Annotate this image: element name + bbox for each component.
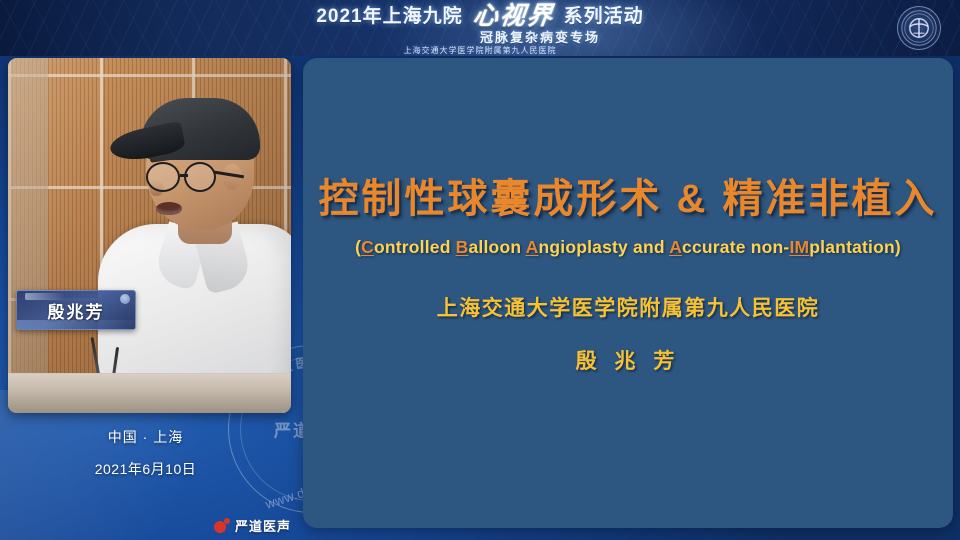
title-en-segment-3: B [456, 237, 469, 257]
slide-title-chinese: 控制性球囊成形术 & 精准非植入 [318, 179, 937, 219]
banner-subtitle: 冠脉复杂病变专场 [480, 31, 600, 44]
banner-title-suffix: 系列活动 [564, 7, 644, 26]
banner-title-line: 2021年上海九院 心视界 系列活动 [316, 4, 643, 29]
title-en-segment-8: ccurate non- [682, 237, 789, 257]
presenter-figure [104, 76, 291, 413]
title-en-segment-4: alloon [469, 237, 526, 257]
title-en-segment-6: ngioplasty and [538, 237, 669, 257]
event-location: 中国 · 上海 [0, 430, 291, 445]
presenter-glasses [144, 162, 240, 192]
slide-organization: 上海交通大学医学院附属第九人民医院 [437, 298, 820, 319]
drvoice-logo-icon [214, 518, 230, 533]
glasses-bridge [180, 174, 188, 177]
title-en-segment-7: A [669, 237, 682, 257]
brand-logo: 严道医声 [214, 516, 291, 535]
banner-host-institution: 上海交通大学医学院附属第九人民医院 [404, 47, 557, 55]
banner-title-hero: 心视界 [468, 4, 558, 29]
title-en-segment-2: ontrolled [374, 237, 456, 257]
title-en-segment-5: A [526, 237, 539, 257]
event-banner: 2021年上海九院 心视界 系列活动 冠脉复杂病变专场 上海交通大学医学院附属第… [0, 0, 960, 56]
podium-desk [8, 373, 291, 413]
hospital-emblem-icon [897, 6, 941, 50]
nameplate-footer-strip [17, 320, 135, 329]
nameplate-highlight [25, 293, 65, 300]
title-en-segment-10: plantation) [809, 237, 901, 257]
title-en-segment-9: IM [789, 237, 809, 257]
event-date: 2021年6月10日 [0, 462, 291, 477]
brand-name-text: 严道医声 [235, 516, 291, 535]
glasses-lens-left [146, 162, 180, 192]
slide-speaker-name: 殷 兆 芳 [576, 351, 681, 372]
slide-title-english: (Controlled Balloon Angioplasty and Accu… [355, 239, 901, 257]
presenter-video-panel[interactable]: 殷兆芳 [8, 58, 291, 413]
nameplate-badge-icon [120, 294, 130, 304]
presenter-mouth [156, 202, 182, 215]
presenter-nameplate-text: 殷兆芳 [48, 298, 105, 323]
title-en-segment-1: C [361, 237, 374, 257]
presentation-stage: 2021年上海九院 心视界 系列活动 冠脉复杂病变专场 上海交通大学医学院附属第… [0, 0, 960, 540]
glasses-temple [214, 171, 244, 178]
glasses-lens-right [184, 162, 216, 192]
banner-title-prefix: 2021年上海九院 [316, 7, 462, 26]
slide-panel[interactable]: 控制性球囊成形术 & 精准非植入 (Controlled Balloon Ang… [303, 58, 953, 528]
event-location-block: 中国 · 上海 2021年6月10日 [0, 430, 291, 478]
logo-dot-small [224, 518, 230, 524]
presenter-nameplate: 殷兆芳 [16, 290, 136, 330]
